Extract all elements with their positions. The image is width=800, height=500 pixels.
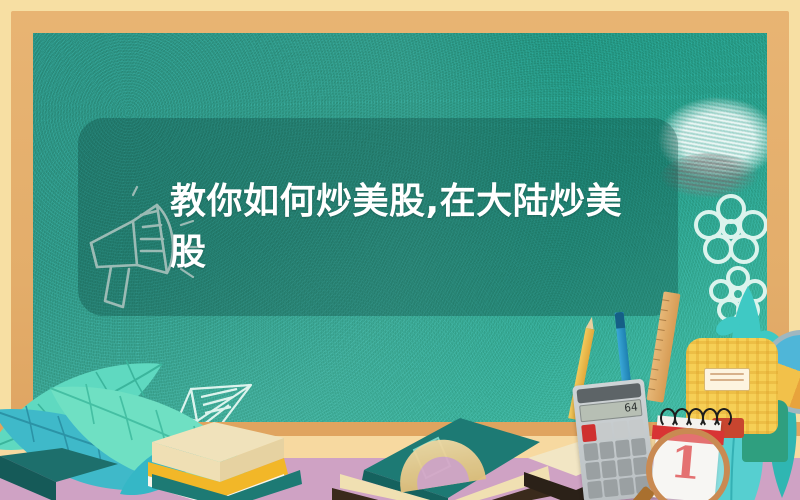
book-closed <box>152 462 302 500</box>
calculator-key[interactable] <box>619 477 635 495</box>
notebook-spiral-binding <box>660 408 730 426</box>
calculator-key[interactable] <box>597 422 613 440</box>
calculator-key[interactable] <box>617 458 633 476</box>
page-title: 教你如何炒美股,在大陆炒美股 <box>170 176 640 278</box>
calculator-key[interactable] <box>601 460 617 478</box>
calculator-key[interactable] <box>629 419 645 437</box>
calculator-key-ac[interactable] <box>581 424 597 442</box>
calculator-display-value: 64 <box>624 400 639 414</box>
pen-cap <box>615 312 626 329</box>
calculator-key[interactable] <box>599 441 615 459</box>
calculator-keypad[interactable] <box>581 419 650 499</box>
book-closed <box>0 448 120 500</box>
calculator-key[interactable] <box>631 438 647 456</box>
calculator-key[interactable] <box>603 479 619 497</box>
calculator-key[interactable] <box>613 421 629 439</box>
calculator: 64 <box>572 379 656 500</box>
calculator-key[interactable] <box>583 443 599 461</box>
backpack-name-tag <box>704 368 750 391</box>
cover-image: 教你如何炒美股,在大陆炒美股 <box>0 0 800 500</box>
calculator-key[interactable] <box>615 439 631 457</box>
calculator-key[interactable] <box>587 481 603 499</box>
calculator-key[interactable] <box>585 462 601 480</box>
flower-chalk-doodle-1 <box>693 191 767 267</box>
